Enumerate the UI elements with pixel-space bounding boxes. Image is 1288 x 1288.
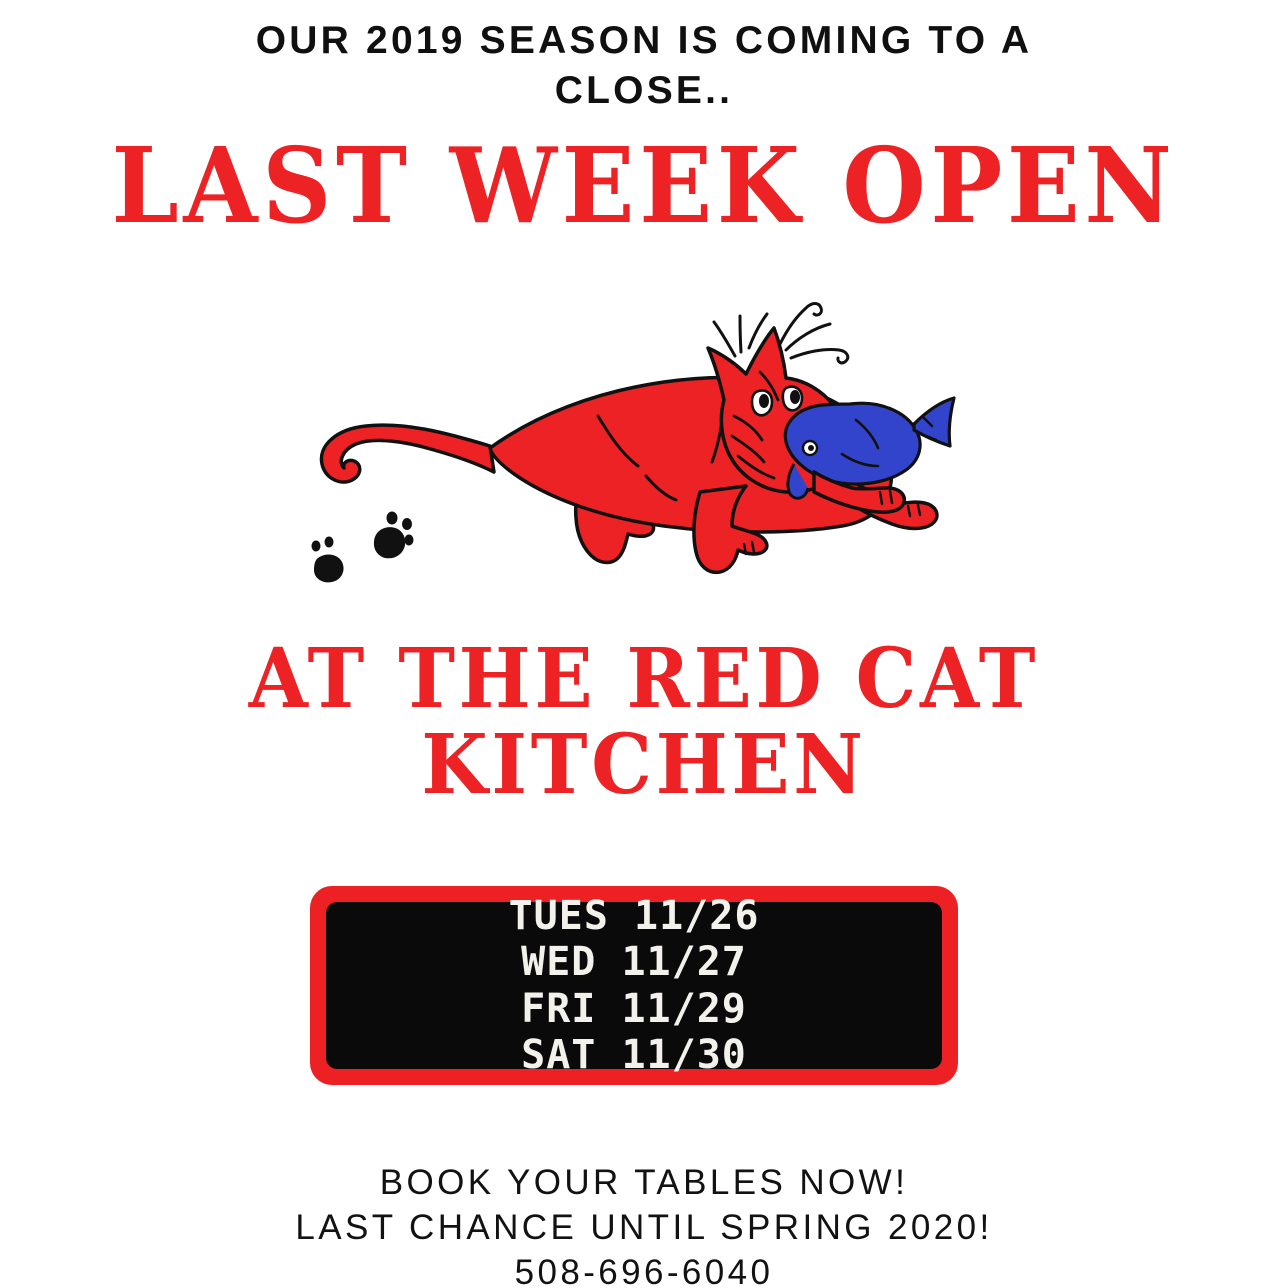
cat-tail (321, 425, 494, 482)
venue-title: AT THE RED CAT KITCHEN (45, 636, 1243, 808)
date-item: TUES 11/26 (509, 893, 760, 939)
dates-panel-inner: TUES 11/26 WED 11/27 FRI 11/29 SAT 11/30 (326, 902, 942, 1069)
fish-pupil (808, 445, 814, 451)
footer-cta: BOOK YOUR TABLES NOW! (0, 1160, 1288, 1205)
date-item: SAT 11/30 (521, 1032, 747, 1078)
cat-pupil-left (759, 394, 769, 408)
poster-canvas: OUR 2019 SEASON IS COMING TO A CLOSE.. L… (0, 0, 1288, 1288)
venue-title-line2: KITCHEN (45, 722, 1243, 808)
page-title: LAST WEEK OPEN (52, 134, 1237, 238)
pawprint-icon-front (374, 512, 414, 559)
cat-pupil-right (790, 390, 800, 404)
footer-notice: LAST CHANCE UNTIL SPRING 2020! (0, 1205, 1288, 1250)
footer-phone[interactable]: 508-696-6040 (0, 1250, 1288, 1288)
dates-panel: TUES 11/26 WED 11/27 FRI 11/29 SAT 11/30 (310, 886, 958, 1085)
date-item: WED 11/27 (521, 939, 747, 985)
announcement-eyebrow: OUR 2019 SEASON IS COMING TO A CLOSE.. (0, 16, 1288, 116)
red-cat-illustration (294, 296, 974, 596)
date-item: FRI 11/29 (521, 986, 747, 1032)
pawprint-icon-rear (312, 537, 344, 583)
footer-block: BOOK YOUR TABLES NOW! LAST CHANCE UNTIL … (0, 1160, 1288, 1288)
venue-title-line1: AT THE RED CAT (249, 631, 1039, 727)
